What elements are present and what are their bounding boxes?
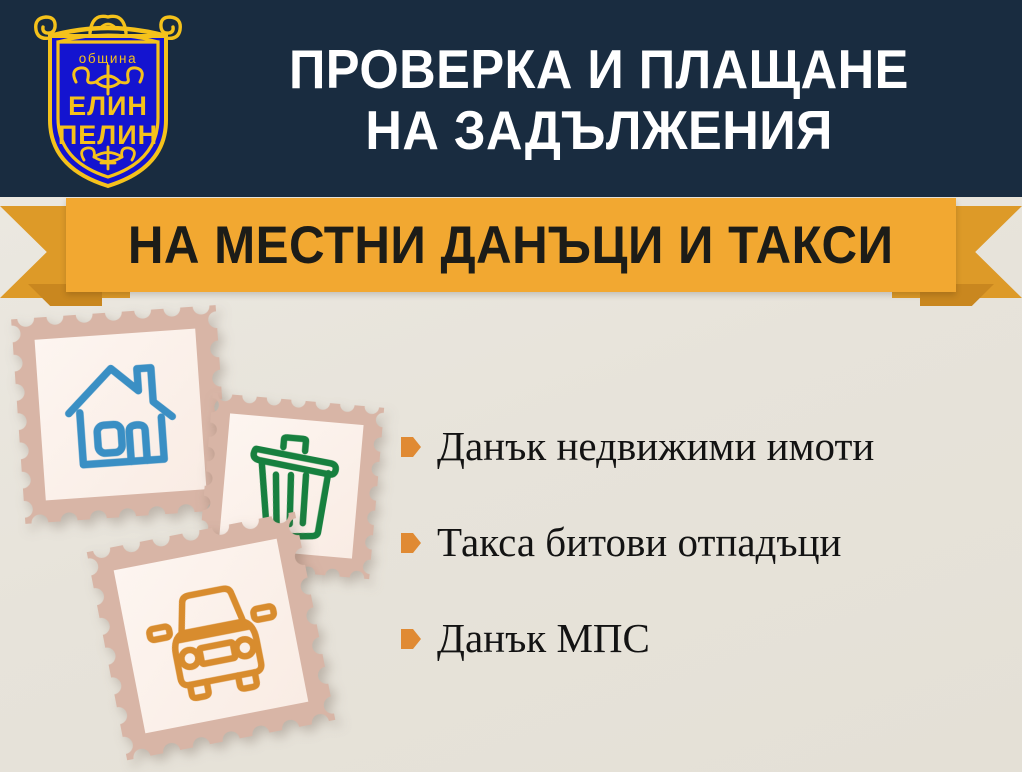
list-item[interactable]: Данък недвижими имоти — [400, 425, 1020, 468]
title-line-1: ПРОВЕРКА И ПЛАЩАНЕ — [289, 41, 909, 97]
list-item[interactable]: Данък МПС — [400, 617, 1020, 660]
municipality-crest-logo: община ЕЛИН ПЕЛИН — [28, 8, 188, 190]
list-item-label: Данък недвижими имоти — [437, 425, 874, 468]
crest-top-text: община — [79, 51, 137, 66]
poster-title: ПРОВЕРКА И ПЛАЩАНЕ НА ЗАДЪЛЖЕНИЯ — [190, 22, 1008, 177]
stamp-frame-house — [11, 305, 230, 524]
list-item[interactable]: Такса битови отпадъци — [400, 521, 1020, 564]
ribbon-band: НА МЕСТНИ ДАНЪЦИ И ТАКСИ — [66, 198, 956, 292]
list-item-label: Данък МПС — [437, 617, 650, 660]
crest-name-line2: ПЕЛИН — [58, 120, 158, 150]
stamp-card-car — [87, 512, 336, 761]
list-item-label: Такса битови отпадъци — [437, 521, 841, 564]
poster-canvas: община ЕЛИН ПЕЛИН — [0, 0, 1022, 772]
stamp-frame-car — [87, 512, 336, 761]
arrow-bullet-icon — [400, 531, 422, 555]
stamp-illustration-group — [0, 300, 420, 772]
arrow-bullet-icon — [400, 435, 422, 459]
crest-name-line1: ЕЛИН — [68, 91, 148, 121]
coat-of-arms-icon: община ЕЛИН ПЕЛИН — [28, 8, 188, 190]
tax-type-list: Данък недвижими имоти Такса битови отпад… — [400, 425, 1020, 713]
title-line-2: НА ЗАДЪЛЖЕНИЯ — [365, 102, 833, 158]
stamp-card-house — [11, 305, 230, 524]
arrow-bullet-icon — [400, 627, 422, 651]
subtitle-ribbon: НА МЕСТНИ ДАНЪЦИ И ТАКСИ — [0, 196, 1022, 306]
ribbon-text: НА МЕСТНИ ДАНЪЦИ И ТАКСИ — [128, 215, 894, 276]
poster-header: община ЕЛИН ПЕЛИН — [0, 0, 1022, 197]
